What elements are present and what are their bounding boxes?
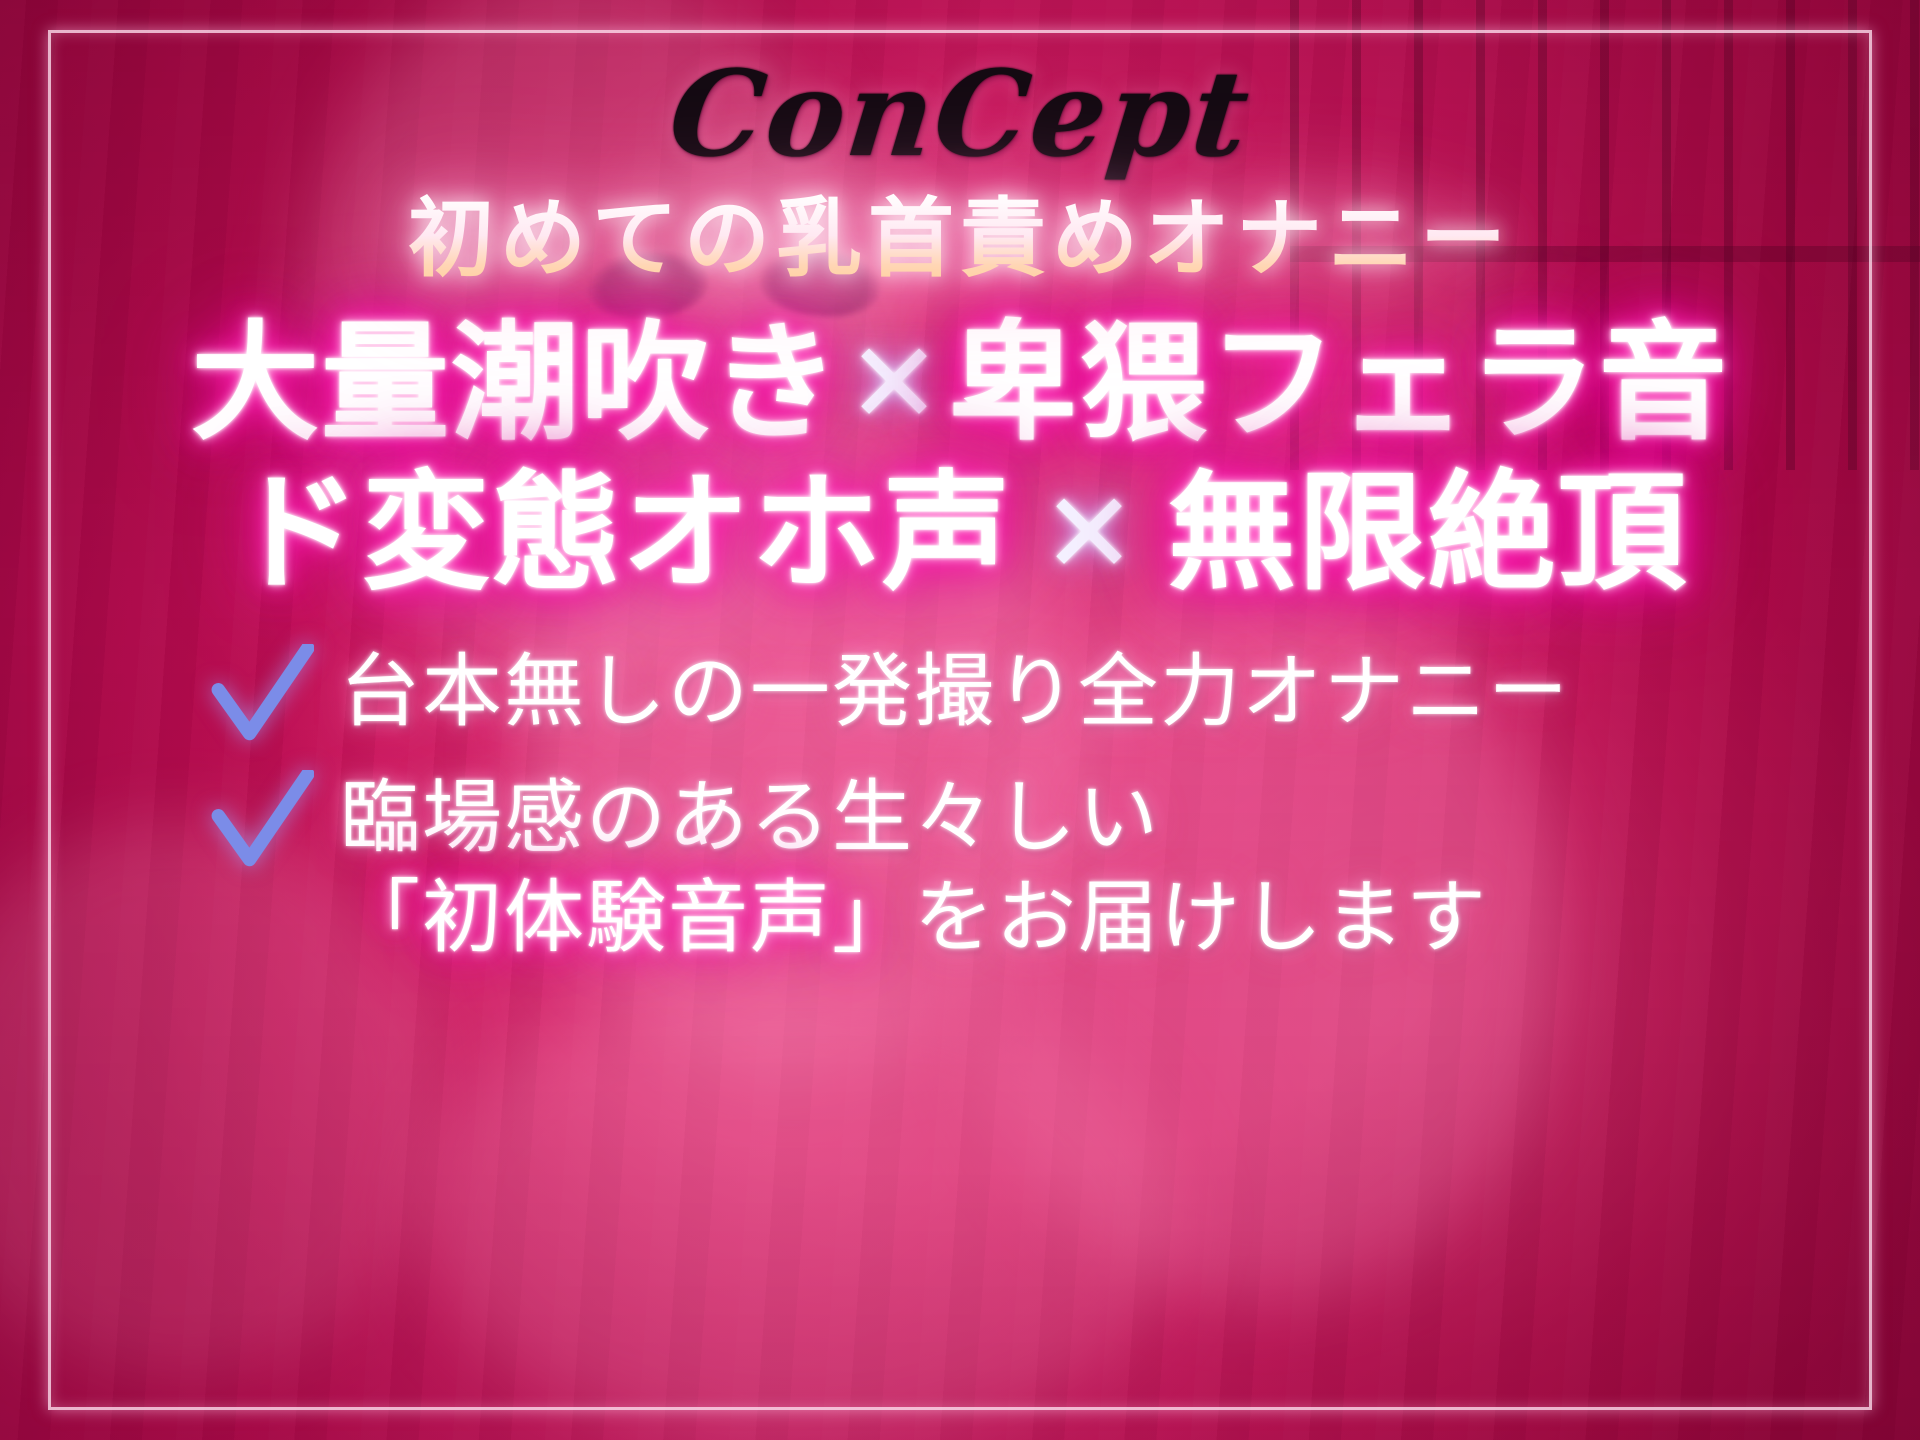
list-item-line-2: 「初体験音声」をお届けします <box>340 868 1488 967</box>
neon-headline-row: ド変態オホ声 ✕ 無限絶頂 <box>232 470 1688 598</box>
cross-icon: ✕ <box>1012 478 1168 590</box>
list-item: 台本無しの一発撮り全力オナニー <box>210 642 1710 748</box>
poster-content: ConCept 初めての乳首責めオナニー 大量潮吹き ✕ 卑猥フェラ音 ド変態オ… <box>0 0 1920 1440</box>
poster-canvas: ConCept 初めての乳首責めオナニー 大量潮吹き ✕ 卑猥フェラ音 ド変態オ… <box>0 0 1920 1440</box>
feature-list: 台本無しの一発撮り全力オナニー 臨場感のある生々しい 「初体験音声」をお届けしま… <box>210 642 1710 966</box>
neon-headline-group: 大量潮吹き ✕ 卑猥フェラ音 ド変態オホ声 ✕ 無限絶頂 <box>191 320 1729 598</box>
check-icon <box>210 770 314 874</box>
neon-text-right: 卑猥フェラ音 <box>949 320 1729 448</box>
list-item-text: 台本無しの一発撮り全力オナニー <box>340 642 1570 741</box>
list-item-line: 台本無しの一発撮り全力オナニー <box>340 645 1570 738</box>
neon-text-left: 大量潮吹き <box>191 320 841 448</box>
neon-headline-row: 大量潮吹き ✕ 卑猥フェラ音 <box>191 320 1729 448</box>
highlight-tail: をお届けします <box>914 871 1488 964</box>
list-item-line: 臨場感のある生々しい <box>340 771 1160 864</box>
subtitle: 初めての乳首責めオナニー <box>408 192 1512 287</box>
highlight-phrase: 「初体験音声」 <box>340 871 914 964</box>
cross-icon: ✕ <box>841 328 949 440</box>
list-item-text: 臨場感のある生々しい 「初体験音声」をお届けします <box>340 768 1488 966</box>
neon-text-left: ド変態オホ声 <box>232 470 1012 598</box>
neon-text-right: 無限絶頂 <box>1168 470 1688 598</box>
list-item: 臨場感のある生々しい 「初体験音声」をお届けします <box>210 768 1710 966</box>
check-icon <box>210 644 314 748</box>
page-title: ConCept <box>664 52 1255 176</box>
